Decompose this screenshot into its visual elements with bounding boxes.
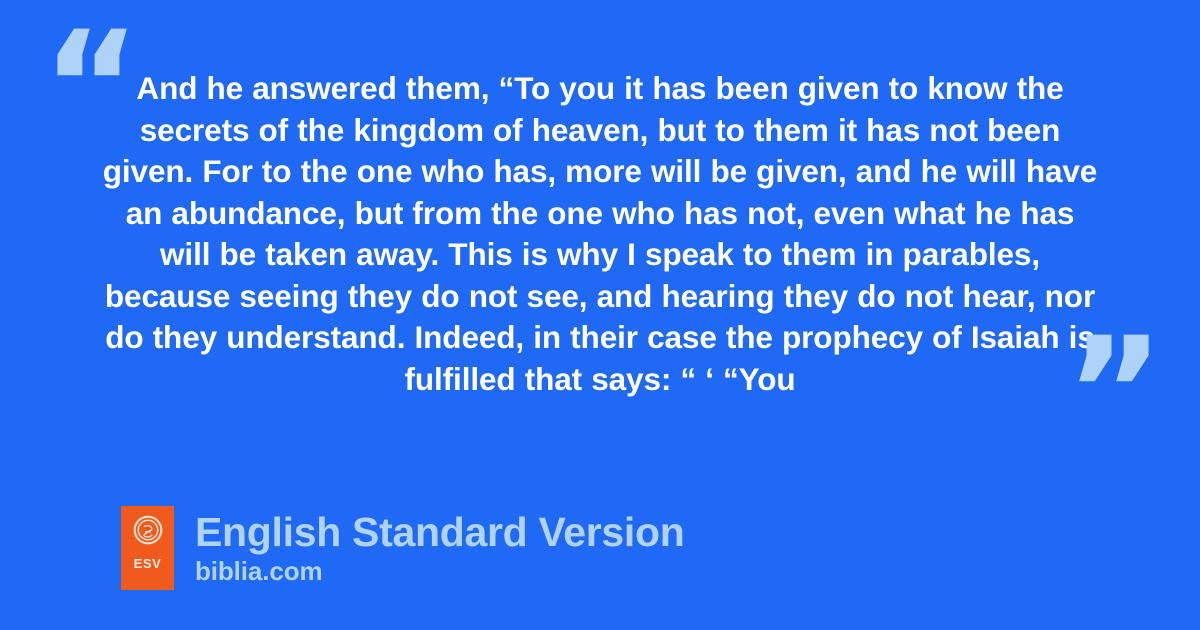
esv-logo-badge: ESV (121, 506, 174, 590)
quote-block: And he answered them, “To you it has bee… (100, 68, 1100, 400)
footer-text-group: English Standard Version biblia.com (195, 510, 684, 586)
site-url-label: biblia.com (195, 556, 684, 586)
closing-quote-icon: ” (1065, 318, 1162, 468)
esv-seal-icon (133, 515, 163, 545)
bible-version-name: English Standard Version (195, 510, 684, 554)
quote-card: “ And he answered them, “To you it has b… (0, 0, 1200, 630)
attribution-footer: ESV English Standard Version biblia.com (121, 506, 684, 590)
esv-badge-label: ESV (134, 557, 162, 570)
quote-text: And he answered them, “To you it has bee… (100, 68, 1100, 400)
